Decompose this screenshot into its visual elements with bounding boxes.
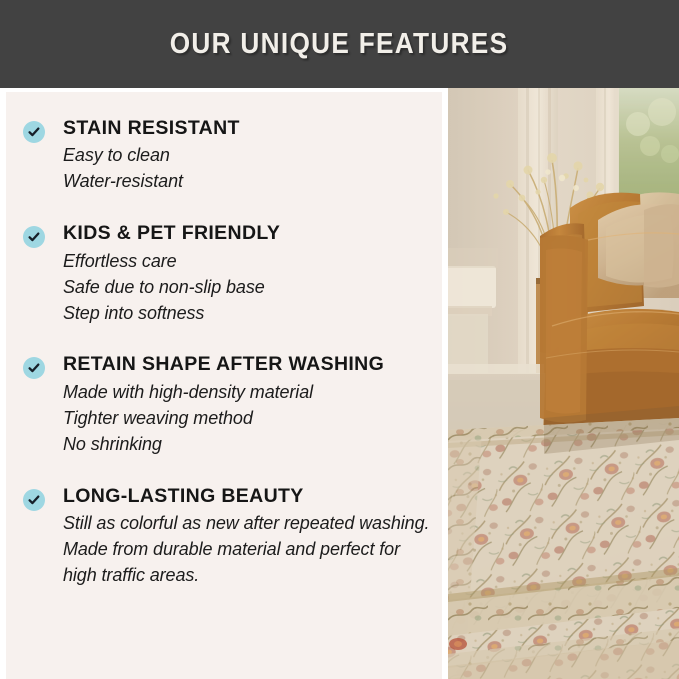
feature-item-kids-pet-friendly: KIDS & PET FRIENDLY Effortless care Safe… <box>22 223 432 326</box>
feature-line: Step into softness <box>63 301 432 327</box>
feature-title: KIDS & PET FRIENDLY <box>63 223 432 243</box>
feature-line: Easy to clean <box>63 143 432 169</box>
feature-line: Water-resistant <box>63 169 432 195</box>
feature-item-stain-resistant: STAIN RESISTANT Easy to clean Water-resi… <box>22 118 432 195</box>
check-circle-icon <box>23 226 45 248</box>
check-circle-icon <box>23 121 45 143</box>
features-infographic: OUR UNIQUE FEATURES STAIN RESISTANT Easy… <box>0 0 679 679</box>
check-circle-icon <box>23 489 45 511</box>
features-panel: STAIN RESISTANT Easy to clean Water-resi… <box>6 92 442 679</box>
living-room-rug-photo <box>448 88 679 679</box>
feature-line-list: Effortless care Safe due to non-slip bas… <box>63 249 432 327</box>
feature-line: Made with high-density material <box>63 380 432 406</box>
header-band: OUR UNIQUE FEATURES <box>0 0 679 88</box>
feature-title: RETAIN SHAPE AFTER WASHING <box>63 354 432 374</box>
feature-title: LONG-LASTING BEAUTY <box>63 486 432 506</box>
feature-line-list: Easy to clean Water-resistant <box>63 143 432 195</box>
feature-title: STAIN RESISTANT <box>63 118 432 138</box>
feature-item-long-lasting-beauty: LONG-LASTING BEAUTY Still as colorful as… <box>22 486 432 589</box>
feature-line: Effortless care <box>63 249 432 275</box>
page-title: OUR UNIQUE FEATURES <box>170 28 509 61</box>
body-area: STAIN RESISTANT Easy to clean Water-resi… <box>0 88 679 679</box>
feature-line: No shrinking <box>63 432 432 458</box>
check-circle-icon <box>23 357 45 379</box>
feature-line: Tighter weaving method <box>63 406 432 432</box>
feature-item-retain-shape-after-washing: RETAIN SHAPE AFTER WASHING Made with hig… <box>22 354 432 457</box>
feature-line: Safe due to non-slip base <box>63 275 432 301</box>
feature-paragraph: Still as colorful as new after repeated … <box>63 511 432 589</box>
feature-line-list: Made with high-density material Tighter … <box>63 380 432 458</box>
